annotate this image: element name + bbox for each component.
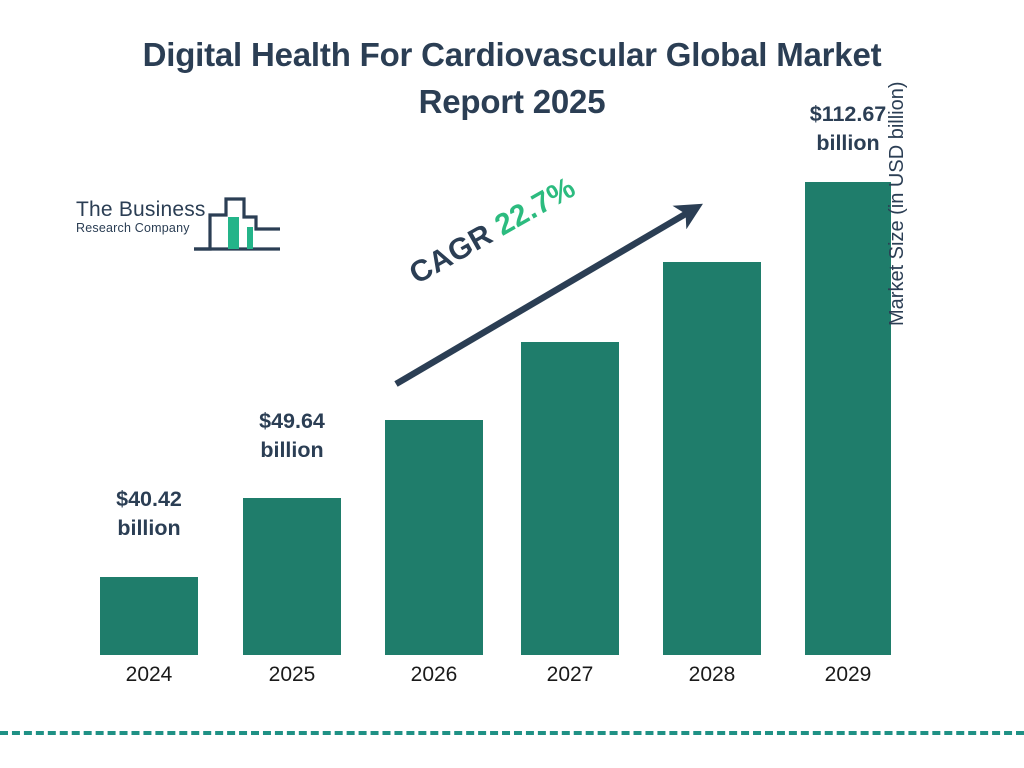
chart-page: Digital Health For Cardiovascular Global… [0, 0, 1024, 768]
bar-2026 [385, 420, 483, 655]
tick-label-2026: 2026 [374, 663, 494, 687]
value-label-2024-unit: billion [89, 514, 209, 543]
value-label-2025-unit: billion [232, 436, 352, 465]
tick-label-2029: 2029 [788, 663, 908, 687]
value-label-2024-amount: $40.42 [89, 485, 209, 514]
bar-2024 [100, 577, 198, 655]
y-axis-title: Market Size (in USD billion) [886, 0, 909, 326]
bar-2027 [521, 342, 619, 655]
bar-2028 [663, 262, 761, 655]
tick-label-2027: 2027 [510, 663, 630, 687]
tick-label-2025: 2025 [232, 663, 352, 687]
value-label-2024: $40.42 billion [89, 485, 209, 543]
value-label-2025-amount: $49.64 [232, 407, 352, 436]
tick-label-2024: 2024 [89, 663, 209, 687]
bar-chart-plot: $40.42 billion $49.64 billion $112.67 bi… [0, 0, 1024, 768]
tick-label-2028: 2028 [652, 663, 772, 687]
bar-2025 [243, 498, 341, 655]
bar-2029 [805, 182, 891, 655]
footer-divider [0, 731, 1024, 735]
value-label-2025: $49.64 billion [232, 407, 352, 465]
